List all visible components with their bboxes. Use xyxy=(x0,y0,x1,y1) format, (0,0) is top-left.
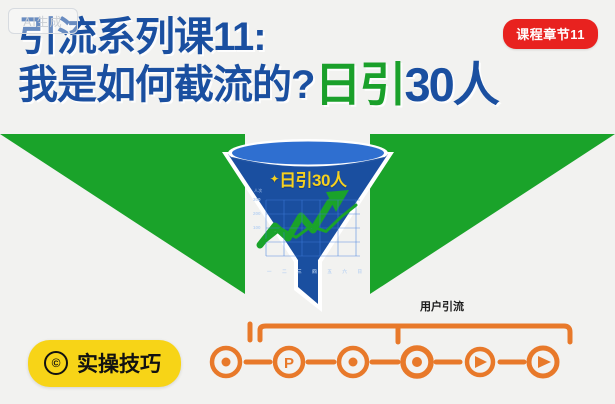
funnel-cone xyxy=(232,157,384,260)
flow-svg: P xyxy=(208,296,608,396)
flow-bracket xyxy=(260,326,570,342)
headline-highlight-blue: 30人 xyxy=(404,58,497,111)
funnel-svg xyxy=(218,130,398,320)
svg-text:P: P xyxy=(284,355,294,372)
chapter-badge[interactable]: 课程章节11 xyxy=(503,19,598,49)
funnel-rim xyxy=(232,142,384,165)
flow-node-dot-3[interactable] xyxy=(403,348,431,376)
headline-line-1: 引流系列课11: xyxy=(18,18,498,57)
funnel-graphic: ✦日引30人 人次 300 xyxy=(218,130,398,320)
headline-line-2: 我是如何截流的?日引30人 xyxy=(18,62,498,108)
flow-node-pin[interactable]: P xyxy=(275,348,303,376)
flow-label: 用户引流 xyxy=(420,298,464,314)
ai-watermark: AI生成 xyxy=(8,8,78,34)
practical-tips-label: 实操技巧 xyxy=(77,348,161,378)
flow-node-play-1[interactable] xyxy=(467,349,493,375)
user-flow-diagram: P 用户引流 xyxy=(208,296,608,396)
flow-node-play-2[interactable] xyxy=(529,348,557,376)
copyright-icon: © xyxy=(44,351,68,375)
poster-canvas: AI生成 引流系列课11: 我是如何截流的?日引30人 课程章节11 xyxy=(0,0,615,404)
green-wing-left xyxy=(0,134,245,294)
headline-line-2-prefix: 我是如何截流的? xyxy=(18,63,314,107)
headline-highlight-green: 日引 xyxy=(314,58,404,111)
headline: 引流系列课11: 我是如何截流的?日引30人 xyxy=(18,18,498,108)
flow-node-dot-1[interactable] xyxy=(212,348,240,376)
practical-tips-badge[interactable]: © 实操技巧 xyxy=(28,340,181,387)
flow-node-dot-2[interactable] xyxy=(339,348,367,376)
green-wing-right xyxy=(370,134,615,294)
flow-connectors xyxy=(246,324,570,362)
